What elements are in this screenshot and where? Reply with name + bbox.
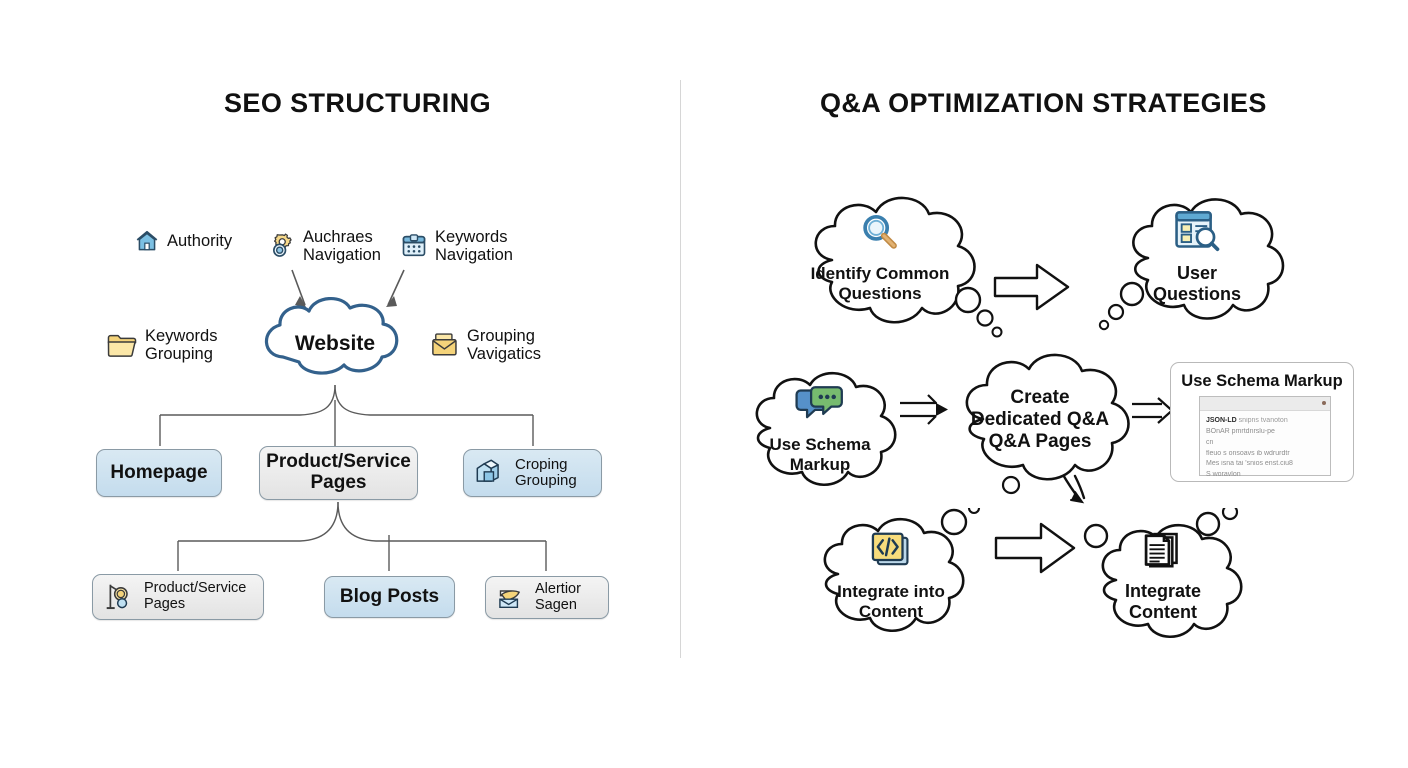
icon-label-keywords-grouping[interactable]: Keywords Grouping (106, 327, 217, 364)
node-label: Product/Service Pages (266, 452, 411, 494)
cloud-label: Identify Common Questions (811, 264, 950, 303)
node-label: Homepage (110, 463, 207, 484)
code-line: cn (1206, 438, 1324, 449)
node-alertior-sagen[interactable]: Alertior Sagen (485, 576, 609, 619)
code-card-titlebar (1200, 397, 1330, 411)
icon-label-text: Keywords Grouping (145, 327, 217, 364)
cloud-label: Create Dedicated Q&A Q&A Pages (971, 387, 1109, 453)
node-label: Product/Service Pages (144, 581, 246, 613)
mail-hand-icon (495, 584, 527, 612)
schema-panel-title: Use Schema Markup (1171, 372, 1353, 391)
code-keyword: JSON-LD (1206, 417, 1237, 424)
folder-icon (106, 331, 138, 359)
website-cloud-label: Website (271, 332, 399, 356)
code-line: Mes isna tai 'snios enst.ciu8 (1206, 459, 1324, 470)
code-card-dot (1322, 401, 1326, 405)
icon-label-text: Grouping Vavigatics (467, 327, 541, 364)
node-label: Croping Grouping (515, 457, 577, 490)
icon-label-keywords-navigation[interactable]: Keywords Navigation (400, 228, 513, 265)
left-panel-title: SEO STRUCTURING (224, 88, 491, 119)
code-line: BOnAR pmrtdnrslu-pe (1206, 427, 1324, 438)
cloud-label: Use Schema Markup (769, 435, 870, 474)
icon-label-text: Auchraes Navigation (303, 228, 381, 265)
icon-label-auchraes-navigation[interactable]: Auchraes Navigation (268, 228, 381, 265)
schema-markup-panel[interactable]: Use Schema Markup JSON-LD snipns tvanoto… (1170, 362, 1354, 482)
cloud-use-schema-markup[interactable]: Use Schema Markup (742, 370, 898, 488)
chat-bubbles-icon (794, 384, 846, 431)
code-preview-card[interactable]: JSON-LD snipns tvanoton BOnAR pmrtdnrslu… (1199, 396, 1331, 476)
node-label: Alertior Sagen (535, 582, 581, 614)
node-croping-grouping[interactable]: Croping Grouping (463, 449, 602, 497)
lamp-idea-icon (102, 581, 136, 613)
code-line: JSON-LD snipns tvanoton (1206, 416, 1324, 427)
node-homepage[interactable]: Homepage (96, 449, 222, 497)
code-line: fleuo s onsoavs ib wdrurdtr (1206, 449, 1324, 460)
gear-icon (268, 232, 296, 260)
icon-label-text: Keywords Navigation (435, 228, 513, 265)
cloud-integrate-content[interactable]: Integrate Content (1090, 520, 1236, 632)
calendar-grid-icon (400, 232, 428, 260)
code-tag-icon (868, 529, 914, 578)
cloud-label: Integrate Content (1125, 581, 1201, 622)
block-arrow-right-1 (995, 265, 1068, 309)
envelope-icon (430, 331, 460, 359)
cloud-create-dedicated-qa-pages[interactable]: Create Dedicated Q&A Q&A Pages (955, 355, 1125, 485)
magnifier-icon (857, 211, 903, 262)
node-product-service-pages-2[interactable]: Product/Service Pages (92, 574, 264, 620)
code-card-body: JSON-LD snipns tvanoton BOnAR pmrtdnrslu… (1200, 411, 1330, 481)
icon-label-text: Authority (167, 232, 232, 250)
icon-label-grouping-vavigatics[interactable]: Grouping Vavigatics (430, 327, 541, 364)
cloud-integrate-into-content[interactable]: Integrate into Content (812, 516, 970, 634)
node-blog-posts[interactable]: Blog Posts (324, 576, 455, 618)
node-product-service-pages[interactable]: Product/Service Pages (259, 446, 418, 500)
icon-label-authority[interactable]: Authority (134, 228, 232, 254)
house-icon (134, 228, 160, 254)
cloud-label: User Questions (1153, 263, 1241, 304)
browser-search-icon (1171, 209, 1223, 260)
cloud-identify-common-questions[interactable]: Identify Common Questions (790, 190, 970, 325)
cloud-user-questions[interactable]: User Questions (1118, 194, 1276, 320)
panel-divider (680, 80, 681, 658)
code-line: S woravlon (1206, 470, 1324, 481)
cloud-label: Integrate into Content (837, 582, 945, 621)
block-arrow-right-2 (996, 524, 1074, 572)
right-panel-title: Q&A OPTIMIZATION STRATEGIES (820, 88, 1267, 119)
node-label: Blog Posts (340, 587, 439, 608)
boxes-icon (473, 458, 507, 488)
code-rest: snipns tvanoton (1237, 417, 1288, 424)
documents-icon (1141, 529, 1185, 578)
